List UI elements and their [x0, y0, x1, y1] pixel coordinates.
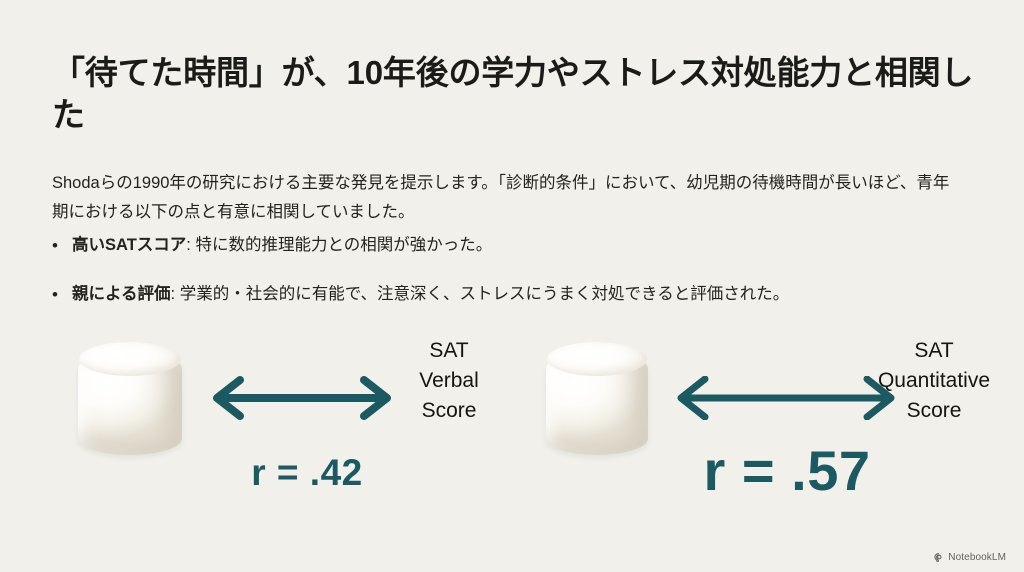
score-label-sat-verbal: SAT Verbal Score	[394, 336, 504, 425]
list-item-body: 親による評価: 学業的・社会的に有能で、注意深く、ストレスにうまく対処できると評…	[72, 281, 992, 307]
watermark: NotebookLM	[933, 552, 1006, 563]
double-headed-arrow-icon	[202, 376, 402, 425]
watermark-label: NotebookLM	[948, 552, 1006, 563]
list-item-body: 高いSATスコア: 特に数的推理能力との相関が強かった。	[72, 232, 992, 258]
marshmallow-top	[547, 342, 647, 376]
list-item-label: 親による評価	[72, 285, 171, 303]
score-label-line: Score	[848, 396, 1020, 426]
list-item: • 親による評価: 学業的・社会的に有能で、注意深く、ストレスにうまく対処できる…	[52, 281, 992, 308]
page-title: 「待てた時間」が、10年後の学力やストレス対処能力と相関した	[52, 52, 982, 136]
notebooklm-logo-icon	[933, 552, 944, 563]
marshmallow-icon	[546, 342, 648, 454]
score-label-line: Verbal	[394, 366, 504, 396]
correlation-panels: SAT Verbal Score r = .42	[0, 330, 1024, 530]
body-paragraph: Shodaらの1990年の研究における主要な発見を提示します。「診断的条件」にお…	[52, 169, 964, 228]
score-label-line: SAT	[394, 336, 504, 366]
slide-root: 「待てた時間」が、10年後の学力やストレス対処能力と相関した Shodaらの19…	[0, 0, 1024, 572]
correlation-value-sat-verbal: r = .42	[212, 452, 402, 494]
list-item-label: 高いSATスコア	[72, 236, 186, 254]
correlation-panel-sat-verbal: SAT Verbal Score r = .42	[62, 330, 472, 530]
score-label-line: Quantitative	[848, 366, 1020, 396]
panel-diagram-row: SAT Quantitative Score	[530, 330, 1006, 455]
list-item-text: 特に数的推理能力との相関が強かった。	[195, 236, 492, 254]
marshmallow-icon	[78, 342, 182, 454]
score-label-line: SAT	[848, 336, 1020, 366]
correlation-panel-sat-quantitative: SAT Quantitative Score r = .57	[530, 330, 1006, 530]
panel-diagram-row: SAT Verbal Score	[62, 330, 472, 455]
bullet-marker-icon: •	[52, 232, 72, 259]
bullet-marker-icon: •	[52, 281, 72, 308]
correlation-value-sat-quantitative: r = .57	[634, 438, 940, 503]
score-label-line: Score	[394, 396, 504, 426]
marshmallow-top	[79, 342, 181, 376]
list-item: • 高いSATスコア: 特に数的推理能力との相関が強かった。	[52, 232, 992, 259]
bullet-list: • 高いSATスコア: 特に数的推理能力との相関が強かった。 • 親による評価:…	[52, 232, 992, 330]
list-item-separator: :	[171, 285, 180, 303]
score-label-sat-quantitative: SAT Quantitative Score	[848, 336, 1020, 425]
list-item-text: 学業的・社会的に有能で、注意深く、ストレスにうまく対処できると評価された。	[180, 285, 790, 303]
